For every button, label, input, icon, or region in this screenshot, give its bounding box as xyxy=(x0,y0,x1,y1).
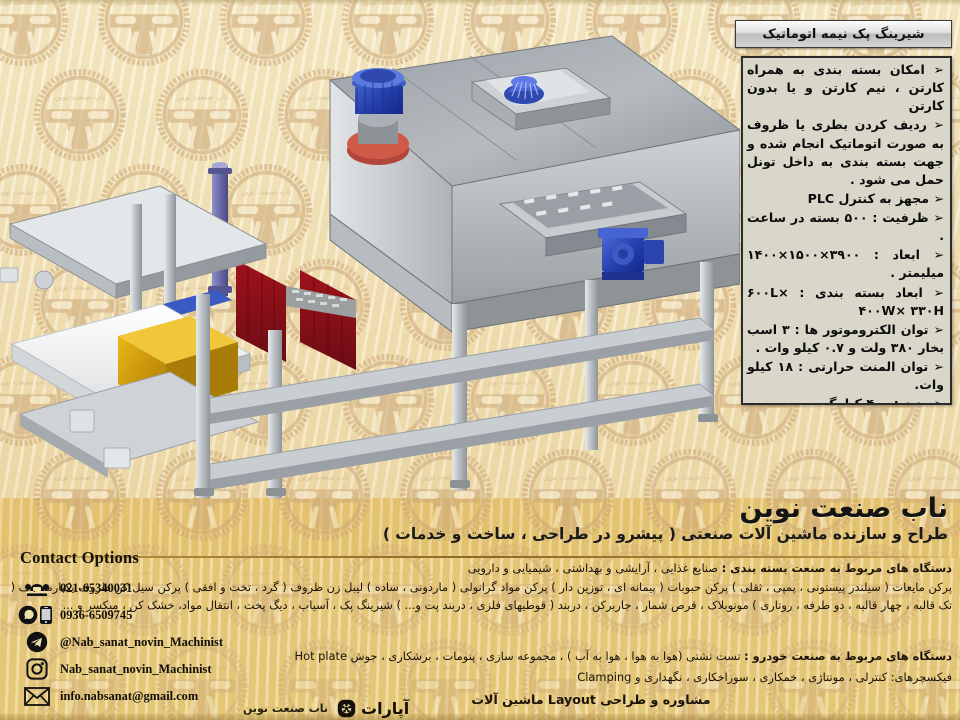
spec-bullet-icon: ➢ xyxy=(927,117,944,132)
spec-item-text: مجهز به کنترل PLC xyxy=(808,191,929,206)
aparat-company-label: ناب صنعت نوین xyxy=(243,702,328,715)
whatsapp-icon xyxy=(14,604,60,626)
aparat-footer: آپارات ناب صنعت نوین xyxy=(0,690,960,720)
machine-3d-render xyxy=(0,18,740,498)
phone-value: 021-65340031 xyxy=(60,581,132,596)
spec-bullet-icon: ➢ xyxy=(929,210,944,225)
telegram-icon xyxy=(14,631,60,653)
spec-bullet-icon: ➢ xyxy=(920,247,944,262)
spec-item: ➢ ظرفیت : ۵۰۰ بسته در ساعت . xyxy=(747,209,944,245)
spec-item-text: ابعاد بسته بندی : ۶۰۰L× ۴۰۰W× ۳۳۰H xyxy=(747,285,944,318)
spec-item-text: وزن : ۴۰۰ کیلوگرم. xyxy=(807,396,929,405)
contact-title: Contact Options xyxy=(20,548,246,568)
spec-item: ➢ ابعاد بسته بندی : ۶۰۰L× ۴۰۰W× ۳۳۰H xyxy=(747,284,944,320)
brand-block: ناب صنعت نوین طراح و سازنده ماشین آلات ص… xyxy=(383,494,948,543)
whatsapp-value: 0936-6509745 xyxy=(60,608,132,623)
spec-bullet-icon: ➢ xyxy=(929,191,944,206)
packaging-heading: دستگاه های مربوط به صنعت بسته بندی : xyxy=(722,561,952,575)
spec-bullet-icon: ➢ xyxy=(925,62,944,77)
telegram-value: @Nab_sanat_novin_Machinist xyxy=(60,635,223,650)
spec-item: ➢ ابعاد : ۳۹۰۰×۱۵۰۰×۱۴۰۰ میلیمتر . xyxy=(747,246,944,282)
spec-item-text: توان الکتروموتور ها : ۳ اسب بخار ۳۸۰ ولت… xyxy=(747,322,944,355)
spec-item-text: امکان بسته بندی به همراه کارتن ، نیم کار… xyxy=(747,62,944,113)
contact-block: Contact Options 021-65340031 xyxy=(14,548,246,710)
contact-row-telegram[interactable]: @Nab_sanat_novin_Machinist xyxy=(14,629,246,655)
company-tagline: طراح و سازنده ماشین آلات صنعتی ( پیشرو د… xyxy=(383,525,948,543)
automotive-heading: دستگاه های مربوط به صنعت خودرو : xyxy=(744,649,952,663)
phone-icon xyxy=(14,578,60,598)
contact-row-whatsapp[interactable]: 0936-6509745 xyxy=(14,602,246,628)
spec-item-text: ردیف کردن بطری یا ظروف به صورت اتوماتیک … xyxy=(747,117,944,186)
spec-item-text: توان المنت حرارتی : ۱۸ کیلو وات. xyxy=(747,359,944,392)
spec-item-text: ابعاد : ۳۹۰۰×۱۵۰۰×۱۴۰۰ میلیمتر . xyxy=(747,247,944,280)
heat-curtain xyxy=(236,260,356,370)
top-edge-strip xyxy=(0,0,960,5)
spec-item: ➢ مجهز به کنترل PLC xyxy=(747,190,944,208)
spec-bullet-icon: ➢ xyxy=(928,322,944,337)
packaging-line-1: صنایع غذایی ، آرایشی و بهداشتی ، شیمیایی… xyxy=(468,561,718,575)
spec-panel-title: شیرینگ پک نیمه اتوماتیک xyxy=(735,20,952,48)
contact-row-phone[interactable]: 021-65340031 xyxy=(14,575,246,601)
automotive-heading-line: دستگاه های مربوط به صنعت خودرو : تست نشت… xyxy=(230,648,952,666)
film-station xyxy=(0,186,266,478)
automotive-line-1: تست نشتی (هوا به هوا ، هوا به آب ) ، مجم… xyxy=(295,649,741,663)
instagram-icon xyxy=(14,658,60,680)
spec-item: ➢ ردیف کردن بطری یا ظروف به صورت اتوماتی… xyxy=(747,116,944,189)
instagram-value: Nab_sanat_novin_Machinist xyxy=(60,662,211,677)
aparat-label: آپارات xyxy=(361,699,409,718)
spec-bullet-icon: ➢ xyxy=(923,285,944,300)
spec-bullet-icon: ➢ xyxy=(929,396,944,405)
contact-row-instagram[interactable]: Nab_sanat_novin_Machinist xyxy=(14,656,246,682)
spec-item: ➢ وزن : ۴۰۰ کیلوگرم. xyxy=(747,395,944,405)
spec-item: ➢ امکان بسته بندی به همراه کارتن ، نیم ک… xyxy=(747,61,944,115)
spec-panel: ➢ امکان بسته بندی به همراه کارتن ، نیم ک… xyxy=(741,56,952,405)
automotive-line-2: فیکسچرهای: کنترلی ، مونتاژی ، خمکاری ، س… xyxy=(230,669,952,687)
spec-item-text: ظرفیت : ۵۰۰ بسته در ساعت . xyxy=(747,210,944,243)
spec-list: ➢ امکان بسته بندی به همراه کارتن ، نیم ک… xyxy=(747,61,944,405)
spec-item: ➢ توان المنت حرارتی : ۱۸ کیلو وات. xyxy=(747,358,944,394)
poster-root: ناب صنعت نوینناب صنعت نوینناب صنعت نوینن… xyxy=(0,0,960,720)
aparat-logo-icon xyxy=(337,699,356,718)
spec-bullet-icon: ➢ xyxy=(928,359,944,374)
company-name: ناب صنعت نوین xyxy=(383,494,948,523)
spec-item: ➢ توان الکتروموتور ها : ۳ اسب بخار ۳۸۰ و… xyxy=(747,321,944,357)
